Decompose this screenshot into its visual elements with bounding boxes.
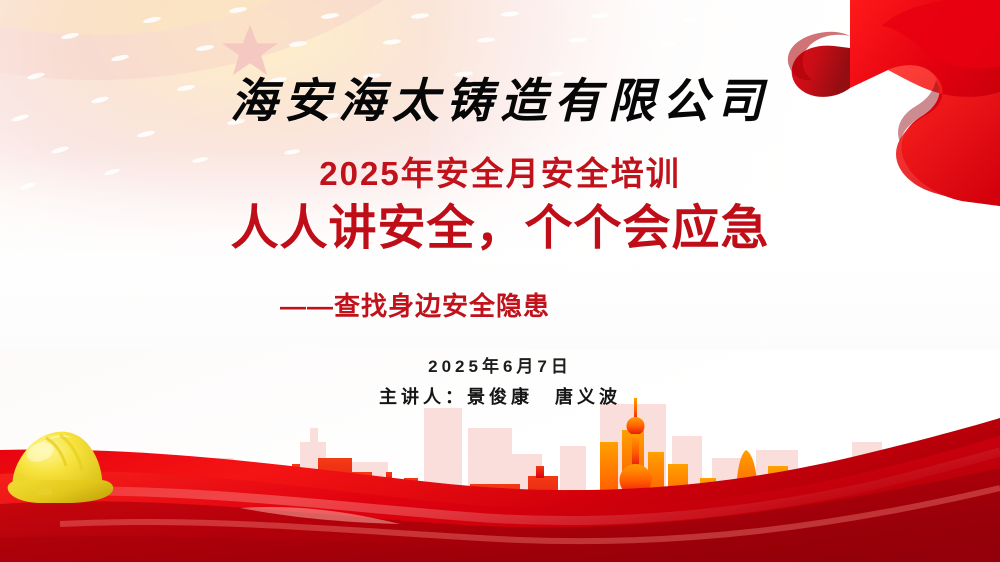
presentation-title-slide: 海安海太铸造有限公司 2025年安全月安全培训 人人讲安全，个个会应急 ——查找… bbox=[0, 0, 1000, 562]
presenter-names: 主讲人：景俊康 唐义波 bbox=[0, 388, 1000, 406]
company-name: 海安海太铸造有限公司 bbox=[0, 78, 1000, 125]
training-subtitle: 2025年安全月安全培训 bbox=[0, 157, 1000, 190]
title-text-block: 海安海太铸造有限公司 2025年安全月安全培训 人人讲安全，个个会应急 ——查找… bbox=[0, 0, 1000, 562]
tagline: ——查找身边安全隐患 bbox=[0, 293, 1000, 319]
presentation-date: 2025年6月7日 bbox=[0, 358, 1000, 375]
main-slogan: 人人讲安全，个个会应急 bbox=[0, 205, 1000, 253]
